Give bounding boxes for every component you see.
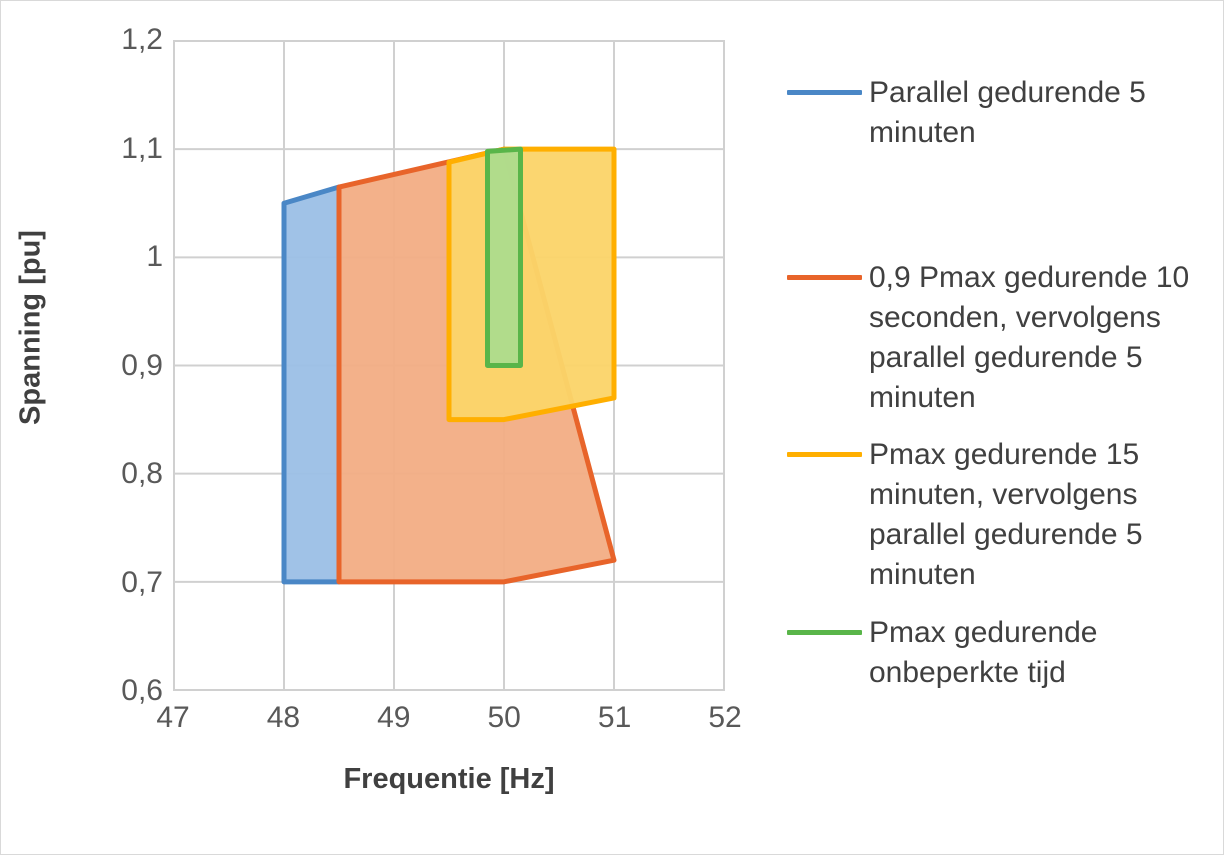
legend-label: Parallel gedurende 5 minuten (869, 73, 1207, 153)
legend-swatch-icon (787, 452, 862, 457)
y-tick-label: 0,9 (63, 349, 163, 383)
legend-item-2[interactable]: 0,9 Pmax gedurende 10 seconden, vervolge… (787, 258, 1207, 418)
y-tick-label: 1 (63, 240, 163, 274)
legend-label: Pmax gedurende onbeperkte tijd (869, 613, 1207, 693)
legend-item-1[interactable]: Parallel gedurende 5 minuten (787, 73, 1207, 153)
x-tick-label: 51 (570, 701, 660, 735)
x-tick-label: 48 (238, 701, 328, 735)
plot-area (173, 40, 725, 691)
x-tick-label: 52 (680, 701, 770, 735)
y-tick-label: 1,1 (63, 132, 163, 166)
y-axis-title: Spanning [pu] (15, 93, 48, 563)
legend-label: Pmax gedurende 15 minuten, vervolgens pa… (869, 435, 1207, 595)
legend-item-3[interactable]: Pmax gedurende 15 minuten, vervolgens pa… (787, 435, 1207, 595)
y-tick-label: 0,8 (63, 457, 163, 491)
legend-label: 0,9 Pmax gedurende 10 seconden, vervolge… (869, 258, 1207, 418)
x-tick-label: 49 (349, 701, 439, 735)
x-tick-label: 47 (128, 701, 218, 735)
x-axis-title: Frequentie [Hz] (173, 763, 725, 796)
legend-swatch-icon (787, 90, 862, 95)
legend-swatch-icon (787, 275, 862, 280)
chart-figure: 0,60,70,80,911,11,2 474849505152 Spannin… (0, 0, 1224, 855)
x-axis-tick-labels: 474849505152 (173, 701, 725, 745)
x-tick-label: 50 (459, 701, 549, 735)
y-tick-label: 1,2 (63, 23, 163, 57)
y-tick-label: 0,7 (63, 566, 163, 600)
legend-swatch-icon (787, 630, 862, 635)
legend-item-4[interactable]: Pmax gedurende onbeperkte tijd (787, 613, 1207, 693)
y-axis-tick-labels: 0,60,70,80,911,11,2 (59, 40, 163, 691)
gridlines (174, 41, 724, 690)
